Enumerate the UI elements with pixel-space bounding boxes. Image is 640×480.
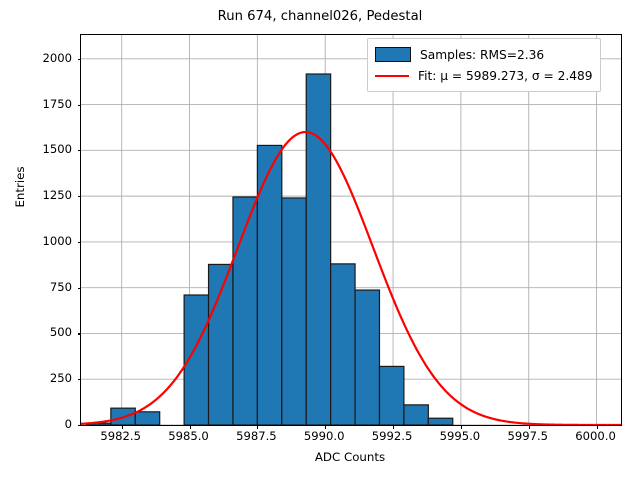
matplotlib-figure: Run 674, channel026, Pedestal 0250500750… [0, 0, 640, 480]
histogram-bars [86, 74, 452, 425]
y-axis-label: Entries [13, 107, 27, 267]
y-tick-mark [78, 242, 82, 243]
legend-swatch-fit-icon [375, 69, 409, 82]
histogram-bar [428, 418, 452, 425]
legend-label-samples: Samples: RMS=2.36 [420, 48, 544, 62]
x-tick-label: 6000.0 [575, 429, 616, 443]
y-tick-label: 250 [50, 371, 72, 385]
y-tick-mark [78, 105, 82, 106]
x-tick-mark [257, 425, 258, 429]
legend-entry-samples: Samples: RMS=2.36 [375, 44, 592, 65]
histogram-bar [331, 264, 355, 425]
y-tick-label: 1000 [42, 234, 72, 248]
y-tick-label: 1500 [42, 142, 72, 156]
histogram-bar [355, 290, 379, 425]
x-axis-tick-labels: 5982.55985.05987.55990.05992.55995.05997… [80, 429, 620, 449]
x-tick-label: 5990.0 [304, 429, 345, 443]
y-tick-label: 2000 [42, 51, 72, 65]
x-tick-mark [393, 425, 394, 429]
x-tick-mark [122, 425, 123, 429]
y-tick-label: 0 [65, 417, 72, 431]
y-tick-mark [78, 288, 82, 289]
plot-canvas [81, 35, 621, 425]
x-tick-mark [325, 425, 326, 429]
y-axis-tick-labels: 025050075010001250150017502000 [0, 34, 72, 424]
chart-legend: Samples: RMS=2.36 Fit: μ = 5989.273, σ =… [367, 38, 601, 92]
x-tick-mark [190, 425, 191, 429]
x-tick-label: 5985.0 [168, 429, 209, 443]
x-axis-label: ADC Counts [80, 450, 620, 464]
y-tick-mark [78, 333, 82, 334]
x-tick-label: 5997.5 [507, 429, 548, 443]
histogram-bar [282, 198, 306, 425]
x-tick-label: 5982.5 [100, 429, 141, 443]
histogram-bar [135, 412, 159, 425]
x-tick-mark [461, 425, 462, 429]
x-tick-mark [597, 425, 598, 429]
y-tick-label: 1750 [42, 97, 72, 111]
y-tick-mark [78, 196, 82, 197]
y-tick-mark [78, 379, 82, 380]
y-tick-label: 750 [50, 280, 72, 294]
x-tick-label: 5987.5 [236, 429, 277, 443]
y-tick-label: 1250 [42, 188, 72, 202]
histogram-bar [379, 366, 403, 425]
histogram-bar [209, 264, 233, 425]
histogram-bar [404, 405, 428, 425]
y-tick-mark [78, 150, 82, 151]
y-tick-label: 500 [50, 325, 72, 339]
y-tick-mark [78, 425, 82, 426]
y-tick-mark [78, 59, 82, 60]
x-tick-mark [529, 425, 530, 429]
legend-label-fit: Fit: μ = 5989.273, σ = 2.489 [418, 69, 592, 83]
legend-swatch-samples-icon [375, 47, 411, 62]
x-tick-label: 5995.0 [440, 429, 481, 443]
legend-entry-fit: Fit: μ = 5989.273, σ = 2.489 [375, 65, 592, 86]
histogram-bar [306, 74, 330, 425]
plot-axes [80, 34, 622, 426]
chart-title: Run 674, channel026, Pedestal [0, 9, 640, 24]
x-tick-label: 5992.5 [372, 429, 413, 443]
